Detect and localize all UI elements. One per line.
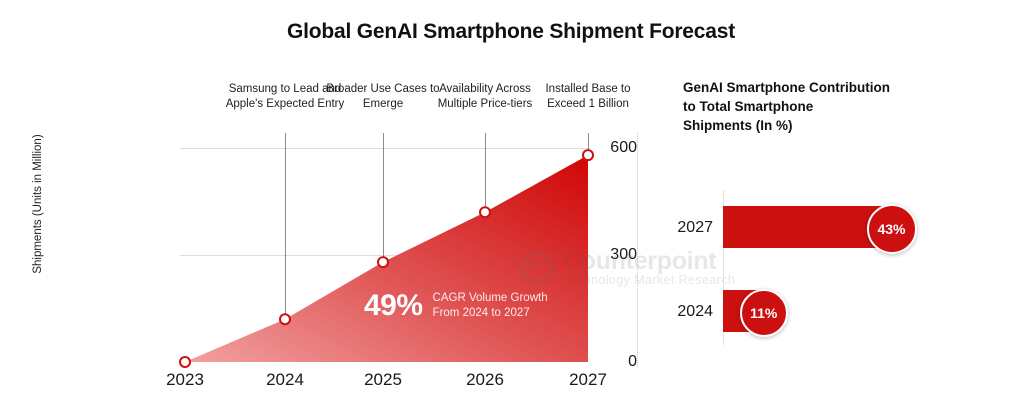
bar-value-badge-2024: 11%: [740, 289, 788, 337]
bar-chart-heading-line2: to Total Smartphone: [683, 97, 983, 116]
bar-value-badge-2027: 43%: [867, 204, 917, 254]
bar-chart-heading-line3: Shipments (In %): [683, 116, 983, 135]
x-tick-label-2027: 2027: [543, 370, 633, 390]
x-tick-label-2026: 2026: [440, 370, 530, 390]
bar-row-label-2024: 2024: [651, 303, 713, 321]
area-series: [0, 0, 637, 408]
x-tick-label-2024: 2024: [240, 370, 330, 390]
x-tick-label-2023: 2023: [140, 370, 230, 390]
bar-chart-heading: GenAI Smartphone Contribution to Total S…: [683, 78, 983, 135]
cagr-value: 49%: [364, 289, 423, 323]
cagr-callout: 49% CAGR Volume Growth From 2024 to 2027: [364, 289, 548, 323]
data-point-2025: [378, 257, 388, 267]
cagr-description-line2: From 2024 to 2027: [433, 306, 548, 321]
cagr-description: CAGR Volume Growth From 2024 to 2027: [433, 291, 548, 321]
bar-row-label-2027: 2027: [651, 219, 713, 237]
data-point-2026: [480, 207, 490, 217]
data-point-2027: [583, 150, 593, 160]
data-point-2024: [280, 314, 290, 324]
bar-chart-panel: GenAI Smartphone Contribution to Total S…: [637, 0, 1022, 408]
cagr-description-line1: CAGR Volume Growth: [433, 291, 548, 306]
bar-chart-heading-line1: GenAI Smartphone Contribution: [683, 78, 983, 97]
area-chart-panel: Shipments (Units in Million) 600 300 0 S…: [0, 0, 637, 408]
data-point-2023: [180, 357, 190, 367]
x-tick-label-2025: 2025: [338, 370, 428, 390]
